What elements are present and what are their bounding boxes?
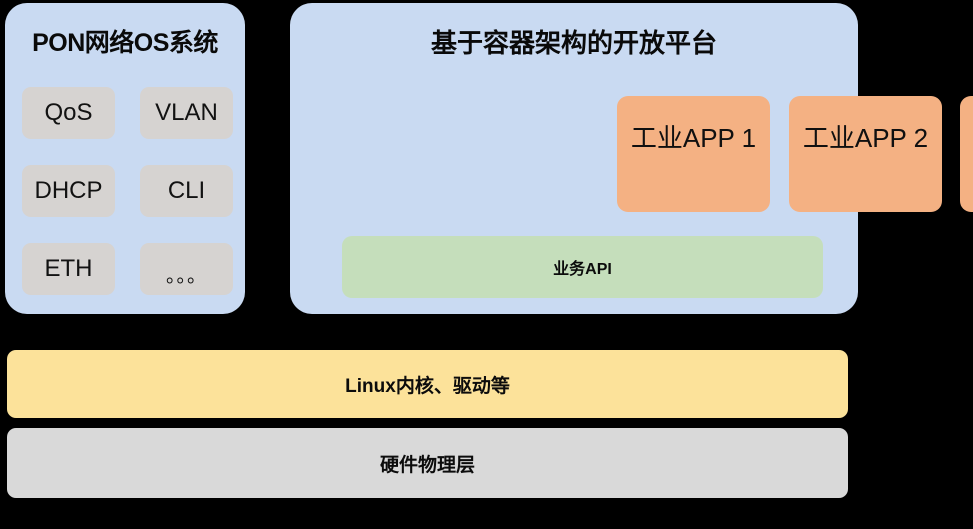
architecture-diagram: PON网络OS系统 QoS VLAN DHCP CLI ETH 。。。 基于容器…: [0, 0, 973, 529]
business-api-bar[interactable]: 业务API: [342, 236, 823, 298]
feature-chip-more[interactable]: 。。。: [140, 243, 233, 295]
pon-network-os-title: PON网络OS系统: [5, 23, 245, 59]
feature-chip-qos[interactable]: QoS: [22, 87, 115, 139]
industrial-app-box-3[interactable]: 工业APP 3: [960, 96, 973, 212]
feature-chip-grid: QoS VLAN DHCP CLI ETH 。。。: [22, 87, 233, 295]
industrial-app-label-1: 工业APP 1: [617, 118, 770, 155]
industrial-app-label-3: 工业APP 3: [960, 118, 973, 155]
feature-chip-cli[interactable]: CLI: [140, 165, 233, 217]
industrial-app-box-2[interactable]: 工业APP 2: [789, 96, 942, 212]
feature-chip-dhcp[interactable]: DHCP: [22, 165, 115, 217]
industrial-app-box-1[interactable]: 工业APP 1: [617, 96, 770, 212]
industrial-app-label-2: 工业APP 2: [789, 118, 942, 155]
container-platform-title: 基于容器架构的开放平台: [290, 23, 858, 60]
feature-chip-vlan[interactable]: VLAN: [140, 87, 233, 139]
pon-network-os-panel: PON网络OS系统 QoS VLAN DHCP CLI ETH 。。。: [5, 3, 245, 314]
feature-chip-eth[interactable]: ETH: [22, 243, 115, 295]
hardware-physical-layer[interactable]: 硬件物理层: [7, 428, 848, 498]
linux-kernel-layer[interactable]: Linux内核、驱动等: [7, 350, 848, 418]
